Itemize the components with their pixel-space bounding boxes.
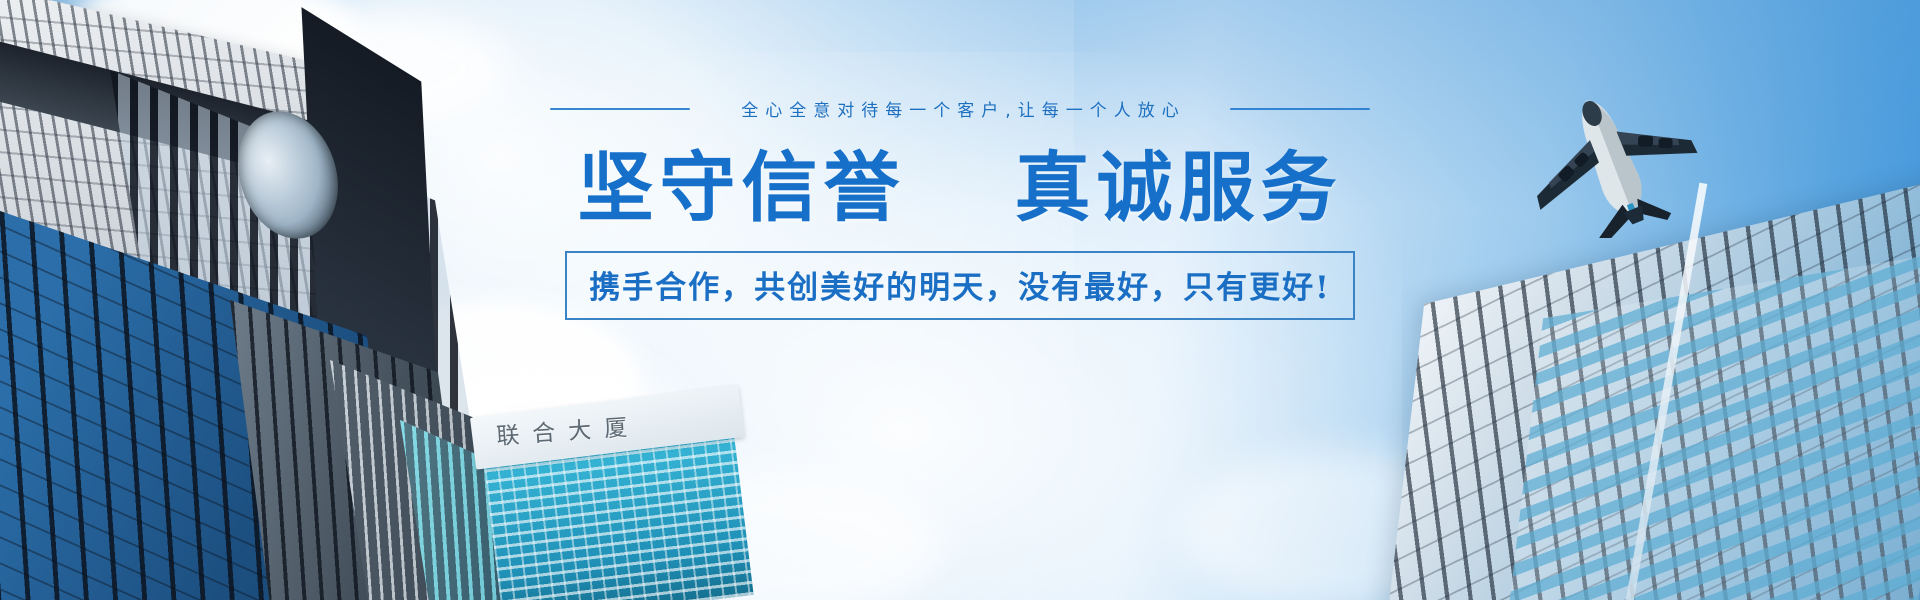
page-title: 坚守信誉 真诚服务 — [578, 147, 1343, 229]
subtitle-box: 携手合作，共创美好的明天，没有最好，只有更好! — [565, 251, 1355, 320]
tagline-text: 全心全意对待每一个客户,让每一个人放心 — [734, 96, 1185, 121]
hero-banner: 联合大厦 全心全意对待每一个客户,让每一个人放心 — [0, 0, 1920, 600]
headline-left: 坚守信誉 — [578, 143, 906, 232]
decorative-rule-left-icon — [550, 108, 690, 110]
tagline-row: 全心全意对待每一个客户,让每一个人放心 — [0, 96, 1920, 121]
building-signage-text: 联合大厦 — [495, 407, 641, 451]
building-center-tower: 联合大厦 — [470, 385, 762, 600]
headline-right: 真诚服务 — [1014, 143, 1342, 232]
subtitle-text: 携手合作，共创美好的明天，没有最好，只有更好! — [589, 262, 1331, 307]
decorative-rule-right-icon — [1230, 108, 1370, 110]
banner-copy: 全心全意对待每一个客户,让每一个人放心 坚守信誉 真诚服务 携手合作，共创美好的… — [0, 96, 1920, 320]
